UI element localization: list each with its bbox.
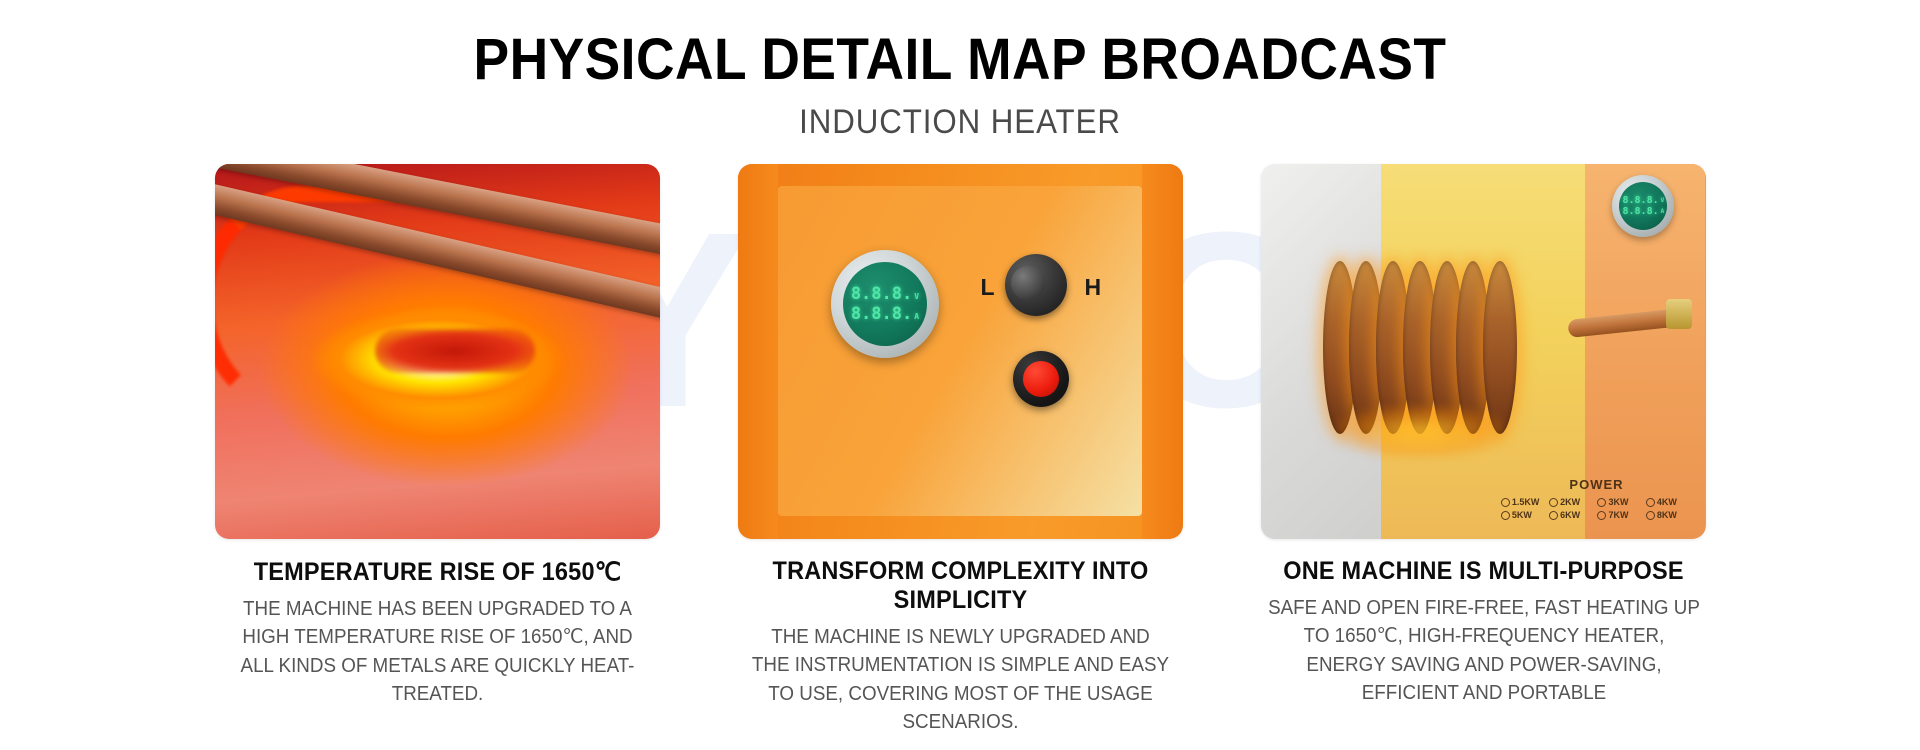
radio-icon[interactable] [1646, 511, 1655, 520]
meter-voltage-unit: V [1661, 198, 1665, 204]
meter-voltage-value: 8.8.8. [851, 286, 912, 303]
promo-banner: BYTOON PHYSICAL DETAIL MAP BROADCAST IND… [0, 0, 1920, 750]
meter-display: 8.8.8. V 8.8.8. A [843, 262, 927, 346]
caption-body: SAFE AND OPEN FIRE-FREE, FAST HEATING UP… [1263, 594, 1705, 708]
feature-panels: TEMPERATURE RISE OF 1650℃ THE MACHINE HA… [0, 164, 1920, 737]
induction-coil-illustration: 8.8.8. V 8.8.8. A POWER [1261, 164, 1706, 539]
power-option[interactable]: 7KW [1597, 510, 1643, 520]
panel-left-edge [738, 164, 778, 539]
power-option[interactable]: 6KW [1549, 510, 1595, 520]
power-option-label: 7KW [1608, 510, 1628, 520]
header: PHYSICAL DETAIL MAP BROADCAST INDUCTION … [0, 0, 1920, 142]
feature-panel-temperature-rise: TEMPERATURE RISE OF 1650℃ THE MACHINE HA… [215, 164, 660, 737]
meter-voltage-unit: V [914, 293, 919, 301]
radio-icon[interactable] [1501, 498, 1510, 507]
power-option[interactable]: 5KW [1501, 510, 1547, 520]
power-option[interactable]: 3KW [1597, 497, 1643, 507]
meter-voltage-row: 8.8.8. V [1622, 196, 1664, 206]
meter-current-row: 8.8.8. A [851, 306, 919, 323]
power-option[interactable]: 4KW [1646, 497, 1692, 507]
radio-icon[interactable] [1501, 511, 1510, 520]
radio-icon[interactable] [1549, 498, 1558, 507]
meter-display: 8.8.8. V 8.8.8. A [1619, 182, 1667, 230]
caption-title: TRANSFORM COMPLEXITY INTO SIMPLICITY [751, 557, 1169, 615]
digital-volt-amp-meter: 8.8.8. V 8.8.8. A [831, 250, 939, 358]
panel-image-control-panel: 8.8.8. V 8.8.8. A L H [738, 164, 1183, 539]
caption-title: ONE MACHINE IS MULTI-PURPOSE [1274, 557, 1692, 586]
coil-glow-effect [1336, 406, 1505, 458]
power-selector: POWER 1.5KW 2KW [1501, 477, 1692, 520]
power-option[interactable]: 1.5KW [1501, 497, 1547, 507]
radio-icon[interactable] [1597, 511, 1606, 520]
meter-current-row: 8.8.8. A [1622, 207, 1664, 217]
rotary-knob[interactable] [1005, 254, 1067, 316]
knob-high-label: H [1085, 274, 1102, 301]
knob-low-label: L [981, 274, 995, 301]
power-option[interactable]: 8KW [1646, 510, 1692, 520]
radio-icon[interactable] [1549, 511, 1558, 520]
brass-fitting-icon [1666, 299, 1692, 329]
meter-voltage-row: 8.8.8. V [851, 286, 919, 303]
power-selector-title: POWER [1501, 477, 1692, 492]
power-option-label: 5KW [1512, 510, 1532, 520]
copper-coil-icon [1323, 261, 1546, 434]
power-option-label: 6KW [1560, 510, 1580, 520]
panel-image-induction-coil: 8.8.8. V 8.8.8. A POWER [1261, 164, 1706, 539]
meter-voltage-value: 8.8.8. [1622, 196, 1658, 206]
caption-body: THE MACHINE HAS BEEN UPGRADED TO A HIGH … [228, 595, 646, 709]
page-title: PHYSICAL DETAIL MAP BROADCAST [77, 30, 1843, 91]
power-option-label: 4KW [1657, 497, 1677, 507]
power-option-label: 1.5KW [1512, 497, 1540, 507]
power-option-label: 8KW [1657, 510, 1677, 520]
power-option[interactable]: 2KW [1549, 497, 1595, 507]
caption-body: THE MACHINE IS NEWLY UPGRADED AND THE IN… [751, 623, 1169, 737]
power-level-knob-group[interactable]: L H [1005, 254, 1067, 316]
meter-current-value: 8.8.8. [851, 306, 912, 323]
meter-current-unit: A [914, 313, 919, 321]
meter-current-unit: A [1661, 209, 1665, 215]
control-panel-illustration: 8.8.8. V 8.8.8. A L H [738, 164, 1183, 539]
power-option-label: 3KW [1608, 497, 1628, 507]
meter-current-value: 8.8.8. [1622, 207, 1658, 217]
radio-icon[interactable] [1597, 498, 1606, 507]
billet-heating-illustration [215, 164, 660, 539]
power-option-label: 2KW [1560, 497, 1580, 507]
power-option-grid: 1.5KW 2KW 3KW [1501, 497, 1692, 520]
page-subtitle: INDUCTION HEATER [77, 103, 1843, 142]
radio-icon[interactable] [1646, 498, 1655, 507]
feature-panel-multi-purpose: 8.8.8. V 8.8.8. A POWER [1261, 164, 1706, 737]
panel-image-temperature-rise [215, 164, 660, 539]
panel-right-edge [1142, 164, 1182, 539]
feature-panel-simplicity: 8.8.8. V 8.8.8. A L H [738, 164, 1183, 737]
caption-title: TEMPERATURE RISE OF 1650℃ [228, 557, 646, 587]
panel-face [778, 186, 1143, 516]
